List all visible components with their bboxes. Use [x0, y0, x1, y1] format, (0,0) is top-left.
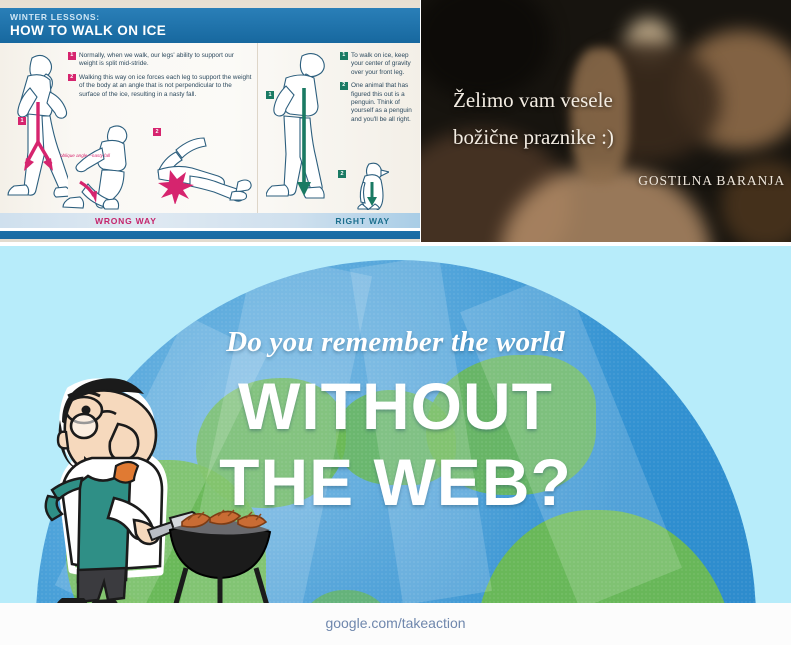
wrong-way-label: WRONG WAY: [95, 216, 157, 226]
bokeh-blur-7: [421, 0, 551, 100]
ice-right-item-2-number: 2: [340, 82, 348, 90]
ice-kicker: WINTER LESSONS:: [10, 12, 100, 22]
ice-left-item-1-number: 1: [68, 52, 76, 60]
right-way-label: RIGHT WAY: [335, 216, 390, 226]
chef-apron: [78, 474, 130, 582]
web-headline-line-1: Do you remember the world: [0, 326, 791, 359]
ice-right-marker-2: 2: [338, 170, 346, 178]
web-banner-panel: Do you remember the world WITHOUT THE WE…: [0, 246, 791, 645]
christmas-photo-panel: Želimo vam vesele božične praznike :) GO…: [421, 0, 791, 242]
ice-left-item-1: 1 Normally, when we walk, our legs' abil…: [68, 52, 253, 69]
ice-infographic-header: WINTER LESSONS: HOW TO WALK ON ICE: [0, 8, 420, 43]
oblique-angle-label: oblique angle—nasty fall: [60, 153, 110, 158]
ice-right-item-1-text: To walk on ice, keep your center of grav…: [351, 52, 411, 76]
ice-left-marker-2: 2: [153, 128, 161, 136]
penguin-icon: [353, 160, 389, 210]
fallen-figure-icon: [150, 126, 258, 204]
chef-bowtie: [114, 462, 138, 483]
web-banner-footer: google.com/takeaction: [0, 603, 791, 645]
cartoon-chef-bbq-illustration: [22, 370, 282, 630]
ice-right-text-column: 1 To walk on ice, keep your center of gr…: [340, 52, 416, 129]
christmas-greeting-line-2: božične praznike :): [453, 125, 614, 150]
ice-right-item-1-number: 1: [340, 52, 348, 60]
takeaction-url[interactable]: google.com/takeaction: [0, 615, 791, 631]
ice-infographic-panel: WINTER LESSONS: HOW TO WALK ON ICE: [0, 0, 420, 242]
ice-infographic-footer: WRONG WAY RIGHT WAY: [0, 213, 420, 228]
ice-left-item-1-text: Normally, when we walk, our legs' abilit…: [79, 52, 234, 67]
ice-ground: [0, 239, 420, 242]
image-collage: WINTER LESSONS: HOW TO WALK ON ICE: [0, 0, 791, 645]
ice-left-item-2-number: 2: [68, 74, 76, 82]
ornament-highlight: [571, 48, 629, 183]
ice-right-item-2-text: One animal that has figured this out is …: [351, 82, 412, 123]
ice-left-item-2: 2 Walking this way on ice forces each le…: [68, 74, 253, 99]
ice-left-item-2-text: Walking this way on ice forces each leg …: [79, 74, 251, 98]
chef-eye: [82, 406, 91, 415]
ice-blue-bottom-bar: [0, 231, 420, 239]
chef-ear: [58, 432, 68, 449]
ice-right-item-2: 2 One animal that has figured this out i…: [340, 82, 416, 124]
ice-left-marker-1: 1: [18, 117, 26, 125]
chef-body: [46, 378, 164, 612]
ice-right-marker-1: 1: [266, 91, 274, 99]
chef-trousers: [78, 568, 126, 602]
walking-figure-right-icon: [266, 46, 342, 214]
ice-right-item-1: 1 To walk on ice, keep your center of gr…: [340, 52, 416, 77]
ice-title: HOW TO WALK ON ICE: [10, 23, 166, 38]
restaurant-brand-label: GOSTILNA BARANJA: [638, 173, 785, 189]
christmas-greeting-line-1: Želimo vam vesele: [453, 88, 613, 113]
ice-left-text-column: 1 Normally, when we walk, our legs' abil…: [68, 52, 253, 104]
falling-figure-icon: [58, 120, 146, 212]
